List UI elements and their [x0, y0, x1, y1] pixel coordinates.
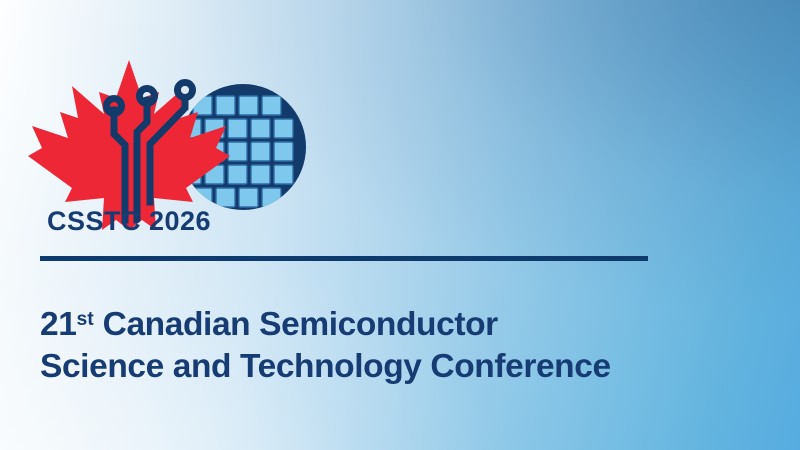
logo-wordmark: CSSTC 2026	[47, 206, 211, 236]
maple-leaf-icon	[28, 60, 230, 230]
page-title: 21st Canadian Semiconductor Science and …	[40, 299, 700, 386]
page-title-line-1-rest: Canadian Semiconductor	[94, 307, 498, 344]
circuit-node-center	[181, 86, 189, 94]
edition-number: 21	[40, 307, 76, 344]
page-title-line-1: 21st Canadian Semiconductor	[40, 299, 700, 345]
edition-ordinal-suffix: st	[76, 308, 93, 330]
csstc-logo: CSSTC 2026	[30, 52, 330, 237]
page-title-line-2: Science and Technology Conference	[40, 346, 700, 387]
conference-banner: CSSTC 2026 21st Canadian Semiconductor S…	[0, 0, 800, 450]
title-divider-rule	[40, 256, 648, 261]
